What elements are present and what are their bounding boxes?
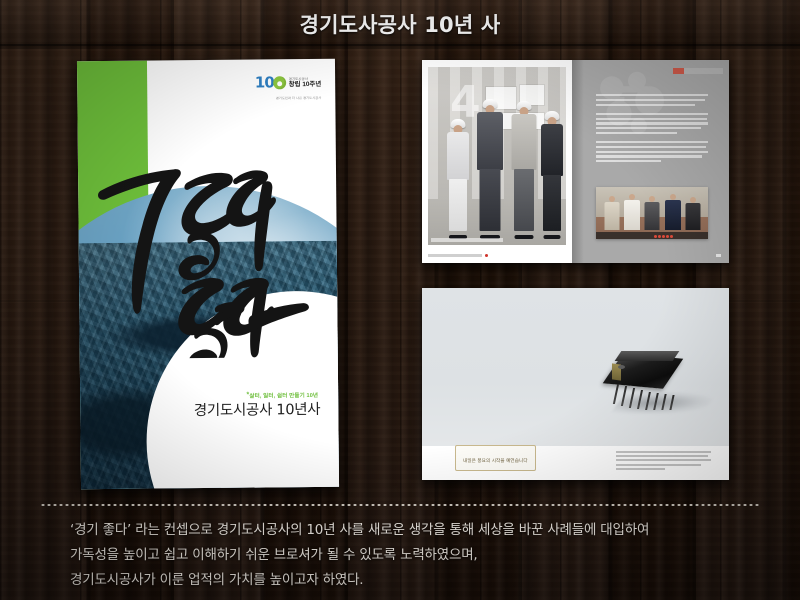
crew-person-1 [446, 119, 470, 239]
group-person-3 [644, 196, 660, 230]
footer-dot-icon [485, 254, 488, 257]
photo-spread-right-page [572, 60, 729, 263]
photo-spread[interactable]: 4 [422, 60, 729, 263]
paragraph-1 [596, 94, 708, 106]
construction-crew-photo: 4 [428, 67, 566, 245]
spread-gutter [572, 60, 584, 263]
screenshot-stage: 경기도사공사 10년 사 [0, 0, 800, 600]
logo-slogan: 경기도민과 더 나은 경기도시공사 [276, 95, 321, 100]
chip-spread[interactable]: 내일은 풍요의 시작을 예언습니다 [422, 288, 729, 480]
logo-circle-icon [273, 76, 286, 89]
chip-quote-text: 내일은 풍요의 시작을 예언습니다 [463, 458, 528, 463]
caption-divider [40, 504, 760, 506]
group-person-5 [685, 197, 701, 230]
logo-mark: 10 [255, 75, 286, 90]
cover-anniversary-logo: 10 경기도시공사 창립 10주년 경기도민과 더 나은 경기도시공사 [255, 75, 321, 91]
photo-inset-caption [431, 238, 503, 242]
cover-main-title: 경기도시공사 10년사 [194, 398, 321, 420]
paragraph-2 [596, 113, 708, 134]
photo-spread-left-page: 4 [422, 60, 572, 263]
chip-top-face [615, 351, 680, 361]
chip-quote-box: 내일은 풍요의 시작을 예언습니다 [455, 445, 536, 471]
crew-person-2 [476, 99, 504, 239]
book-cover[interactable]: 10 경기도시공사 창립 10주년 경기도민과 더 나은 경기도시공사 *살터,… [77, 59, 339, 489]
chip-spread-top [422, 288, 729, 446]
caption-line-2: 가독성을 높이고 쉽고 이해하기 쉬운 브로셔가 될 수 있도록 노력하였으며, [70, 543, 770, 568]
page-title: 경기도사공사 10년 사 [0, 9, 800, 39]
logo-anniversary-label: 창립 10주년 [289, 81, 321, 89]
group-photo [596, 187, 708, 239]
photo-page-footer [428, 254, 488, 257]
footer-bar [428, 254, 482, 257]
flower-row-icon [654, 235, 673, 238]
caption-block: ‘경기 좋다’ 라는 컨셉으로 경기도시공사의 10년 사를 새로운 생각을 통… [70, 518, 770, 593]
caption-line-1: ‘경기 좋다’ 라는 컨셉으로 경기도시공사의 10년 사를 새로운 생각을 통… [70, 518, 770, 543]
logo-text: 경기도시공사 창립 10주년 [289, 76, 322, 88]
group-person-2 [623, 194, 640, 230]
right-page-body-text [596, 94, 708, 169]
title-bar-rule [0, 44, 800, 46]
paragraph-3 [596, 141, 708, 162]
page-number [716, 254, 721, 257]
chip-body-text [616, 451, 711, 472]
ic-chip-image [611, 356, 675, 386]
caption-line-3: 경기도시공사가 이룬 업적의 가치를 높이고자 하였다. [70, 568, 770, 593]
group-person-4 [664, 194, 681, 230]
logo-number: 10 [255, 75, 274, 90]
group-person-1 [604, 196, 620, 230]
crew-person-4 [540, 111, 564, 239]
chip-pins [615, 382, 685, 408]
chip-notch [618, 365, 625, 369]
group-photo-caption-bar [596, 232, 708, 239]
crew-person-3 [510, 101, 537, 239]
